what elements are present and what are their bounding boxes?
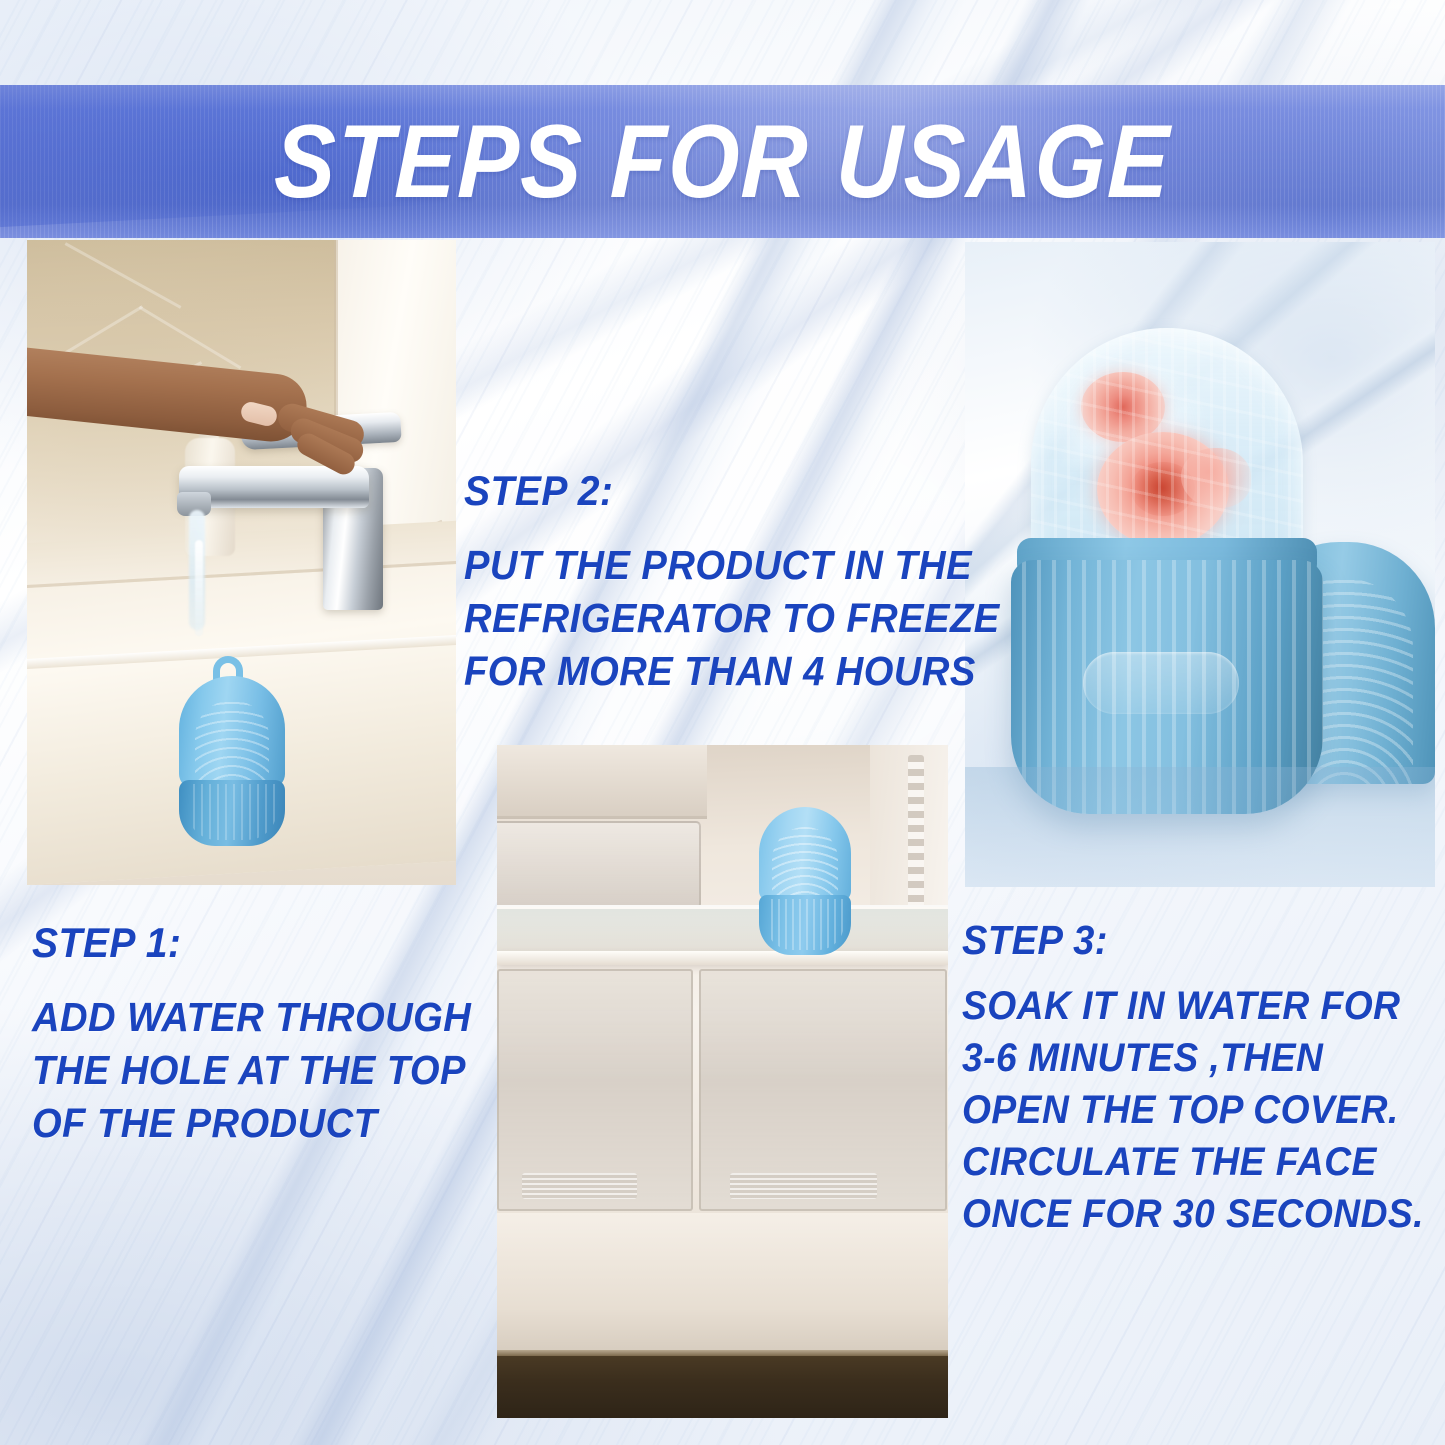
ice-mold-product xyxy=(759,807,851,957)
step3-line-3: OPEN THE TOP COVER. xyxy=(962,1084,1418,1136)
spacer xyxy=(32,965,502,991)
header-banner: STEPS FOR USAGE xyxy=(0,85,1445,238)
step2-photo-refrigerator xyxy=(497,745,948,1418)
frozen-rose-small xyxy=(1081,372,1165,442)
ice-backdrop xyxy=(965,242,1435,887)
spacer xyxy=(464,513,984,539)
step2-label: STEP 2: xyxy=(464,470,948,513)
step3-text-block: STEP 3: SOAK IT IN WATER FOR 3-6 MINUTES… xyxy=(962,920,1445,1240)
tile-seam xyxy=(65,242,182,309)
step1-text-block: STEP 1: ADD WATER THROUGH THE HOLE AT TH… xyxy=(32,922,502,1151)
step3-line-2: 3-6 MINUTES ,THEN xyxy=(962,1032,1418,1084)
ice-mold-product xyxy=(179,676,285,844)
fridge-bottom-shadow xyxy=(497,1356,948,1418)
bathroom-scene xyxy=(27,240,456,885)
mold-base xyxy=(759,895,851,955)
step1-line-2: THE HOLE AT THE TOP xyxy=(32,1044,469,1097)
frozen-rose-large xyxy=(1097,432,1229,546)
step2-line-2: REFRIGERATOR TO FREEZE xyxy=(464,592,948,645)
mold-cap xyxy=(759,807,851,901)
fridge-floor xyxy=(497,1213,948,1373)
mold-base xyxy=(179,780,285,846)
step3-line-4: CIRCULATE THE FACE xyxy=(962,1136,1418,1188)
step3-line-1: SOAK IT IN WATER FOR xyxy=(962,980,1418,1032)
refrigerator-interior xyxy=(497,745,948,1418)
fridge-shelf-lip xyxy=(497,951,948,965)
step1-label: STEP 1: xyxy=(32,922,469,965)
step1-line-3: OF THE PRODUCT xyxy=(32,1097,469,1150)
page-title: STEPS FOR USAGE xyxy=(85,110,1360,214)
mold-cap xyxy=(179,676,285,788)
step2-line-3: FOR MORE THAN 4 HOURS xyxy=(464,645,948,698)
fridge-shelf-rail xyxy=(908,755,924,917)
water-stream-highlight xyxy=(195,540,203,636)
step3-line-5: ONCE FOR 30 SECONDS. xyxy=(962,1188,1418,1240)
product-badge xyxy=(1083,652,1239,714)
step3-photo-product xyxy=(965,242,1435,887)
step3-label: STEP 3: xyxy=(962,920,1418,962)
step1-photo-faucet xyxy=(27,240,456,885)
frozen-ice-dome xyxy=(1031,328,1303,570)
step1-line-1: ADD WATER THROUGH xyxy=(32,991,469,1044)
surface-reflection xyxy=(965,767,1435,887)
fridge-glass-shelf xyxy=(497,909,948,957)
spacer xyxy=(962,962,1445,980)
rose-petal xyxy=(1181,448,1251,508)
fridge-crisper-drawer-left xyxy=(497,969,693,1211)
step2-line-1: PUT THE PRODUCT IN THE xyxy=(464,539,948,592)
fridge-top-drawer xyxy=(497,821,701,909)
fridge-upper-shelf xyxy=(497,745,707,819)
fridge-crisper-drawer-right xyxy=(699,969,947,1211)
usage-steps-infographic: STEPS FOR USAGE xyxy=(0,0,1445,1445)
step2-text-block: STEP 2: PUT THE PRODUCT IN THE REFRIGERA… xyxy=(464,470,984,699)
